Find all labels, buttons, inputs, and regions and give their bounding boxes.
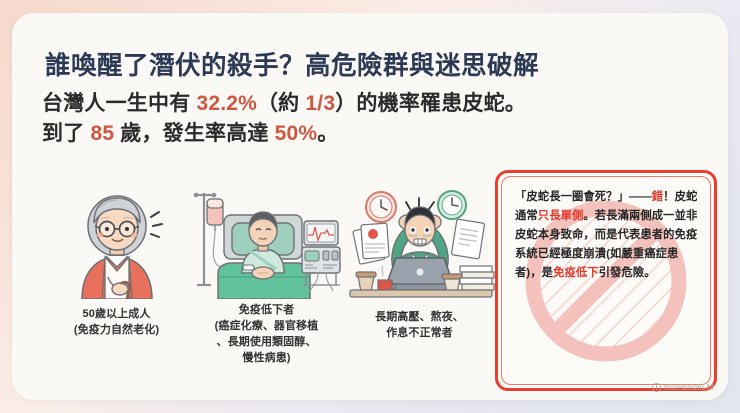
caption-line: (免疫力自然老化) (34, 323, 199, 339)
risk-group-card-3: 長期高壓、熬夜、 作息不正常者 (337, 176, 502, 342)
risk-group-caption-2: 免疫低下者 (癌症化療、器官移植 、長期使用類固醇、 慢性病患) (189, 303, 344, 367)
caption-line: 、長期使用類固醇、 (189, 335, 344, 351)
stat-fraction: 1/3 (305, 92, 335, 115)
risk-group-card-1: 50歲以上成人 (免疫力自然老化) (34, 181, 199, 339)
risk-group-caption-3: 長期高壓、熬夜、 作息不正常者 (337, 310, 502, 342)
lead-text: ）的機率罹患皮蛇。 (335, 92, 526, 115)
stat-incidence: 50% (275, 122, 318, 145)
caption-line: 免疫低下者 (189, 303, 344, 319)
caption-line: (癌症化療、器官移植 (189, 319, 344, 335)
caption-line: 長期高壓、熬夜、 (337, 310, 502, 326)
risk-group-card-2: 免疫低下者 (癌症化療、器官移植 、長期使用類固醇、 慢性病患) (189, 181, 344, 367)
lead-text: 歲，發生率高達 (114, 122, 274, 145)
stressed-office-worker-illustration (344, 176, 496, 300)
myth-buster-box: 「皮蛇長一圈會死？」——錯！皮蛇通常只長單側。若長滿兩側成一並非皮蛇本身致命，而… (495, 170, 717, 391)
myth-segment: 「皮蛇長一圈會死？」—— (515, 191, 652, 203)
watermark: NotebookLM (652, 382, 714, 392)
stat-age: 85 (90, 122, 114, 145)
lead-text: 台灣人一生中有 (42, 92, 196, 115)
slide-card: 誰喚醒了潛伏的殺手？高危險群與迷思破解 台灣人一生中有 32.2%（約 1/3）… (12, 13, 728, 400)
myth-segment: 引發危險。 (599, 267, 656, 279)
watermark-label: NotebookLM (664, 382, 714, 392)
lead-text: （約 (257, 92, 305, 115)
myth-segment-highlight: 只長單側 (538, 210, 584, 222)
lead-line-2: 到了 85 歲，發生率高達 50%。 (42, 119, 562, 149)
lead-paragraph: 台灣人一生中有 32.2%（約 1/3）的機率罹患皮蛇。 到了 85 歲，發生率… (42, 89, 562, 149)
caption-line: 50歲以上成人 (34, 307, 199, 323)
hospital-patient-with-iv-drip-illustration (192, 181, 342, 299)
lead-line-1: 台灣人一生中有 32.2%（約 1/3）的機率罹患皮蛇。 (42, 89, 562, 119)
stat-lifetime-risk: 32.2% (196, 92, 257, 115)
elderly-woman-with-cane-illustration (58, 181, 176, 299)
lead-text: 到了 (42, 122, 90, 145)
page-title: 誰喚醒了潛伏的殺手？高危險群與迷思破解 (45, 45, 539, 82)
caption-line: 作息不正常者 (337, 326, 502, 342)
caption-line: 慢性病患) (189, 351, 344, 367)
risk-group-caption-1: 50歲以上成人 (免疫力自然老化) (34, 307, 199, 339)
myth-segment-highlight: 免疫低下 (553, 267, 599, 279)
myth-buster-box-inner: 「皮蛇長一圈會死？」——錯！皮蛇通常只長單側。若長滿兩側成一並非皮蛇本身致命，而… (501, 176, 711, 385)
lead-text: 。 (317, 122, 338, 145)
myth-segment-highlight: 錯 (652, 191, 663, 203)
myth-buster-text: 「皮蛇長一圈會死？」——錯！皮蛇通常只長單側。若長滿兩側成一並非皮蛇本身致命，而… (502, 177, 710, 283)
notebooklm-logo-icon (652, 383, 661, 392)
